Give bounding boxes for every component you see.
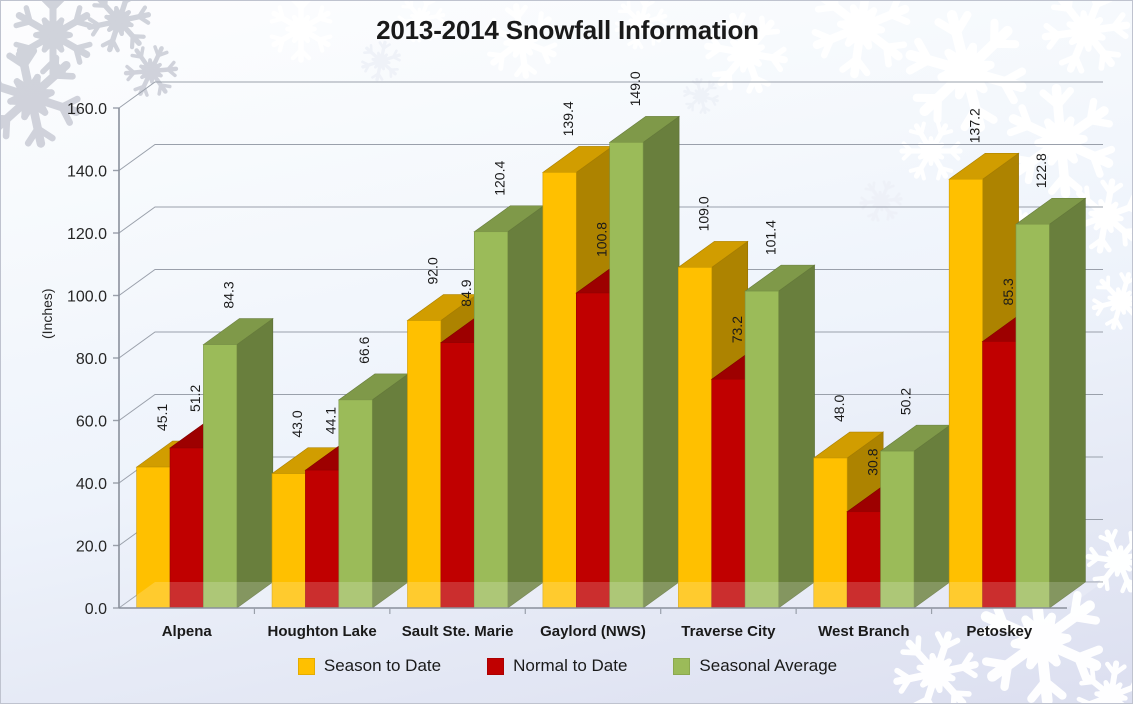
legend-item-normal-to-date[interactable]: Normal to Date: [487, 656, 627, 676]
bar-value-label: 66.6: [356, 336, 372, 363]
bar-seasonal-average: [1016, 198, 1085, 608]
bar-value-label: 109.0: [695, 196, 711, 231]
x-category-label: West Branch: [818, 623, 909, 640]
legend-item-season-to-date[interactable]: Season to Date: [298, 656, 441, 676]
legend-label: Season to Date: [324, 656, 441, 676]
y-tick-label: 40.0: [76, 476, 107, 493]
y-tick-label: 140.0: [67, 164, 107, 181]
bar-value-label: 100.8: [593, 222, 609, 257]
legend-swatch-icon: [298, 658, 315, 675]
bar-value-label: 122.8: [1033, 153, 1049, 188]
bar-value-label: 73.2: [729, 316, 745, 343]
x-category-label: Gaylord (NWS): [540, 623, 646, 640]
bar-value-label: 137.2: [966, 108, 982, 143]
bar-value-label: 92.0: [425, 257, 441, 284]
bars: [137, 116, 1086, 608]
x-category-label: Houghton Lake: [268, 623, 377, 640]
y-tick-label: 60.0: [76, 414, 107, 431]
x-category-label: Petoskey: [966, 623, 1033, 640]
bar-value-label: 85.3: [1000, 278, 1016, 305]
bar-value-label: 30.8: [864, 448, 880, 475]
legend-swatch-icon: [487, 658, 504, 675]
legend-swatch-icon: [673, 658, 690, 675]
bar-seasonal-average: [745, 265, 814, 608]
bar-value-label: 48.0: [831, 395, 847, 422]
bar-seasonal-average: [881, 425, 950, 608]
bar-value-label: 120.4: [491, 161, 507, 196]
chart-container: 2013-2014 Snowfall Information (Inches) …: [0, 0, 1133, 704]
y-tick-label: 80.0: [76, 351, 107, 368]
bar-value-label: 149.0: [627, 71, 643, 106]
legend-label: Seasonal Average: [699, 656, 837, 676]
bar-seasonal-average: [610, 116, 679, 608]
bar-seasonal-average: [474, 206, 543, 608]
bar-value-label: 43.0: [289, 410, 305, 437]
bar-value-label: 51.2: [187, 385, 203, 412]
y-axis-ticks: 0.020.040.060.080.0100.0120.0140.0160.0: [67, 101, 119, 618]
bar-value-label: 84.9: [458, 279, 474, 306]
x-category-label: Sault Ste. Marie: [402, 623, 514, 640]
legend-item-seasonal-average[interactable]: Seasonal Average: [673, 656, 837, 676]
y-tick-label: 160.0: [67, 101, 107, 118]
legend-label: Normal to Date: [513, 656, 627, 676]
bar-seasonal-average: [203, 319, 272, 608]
y-tick-label: 0.0: [85, 601, 107, 618]
y-tick-label: 100.0: [67, 289, 107, 306]
bar-value-label: 101.4: [762, 220, 778, 255]
bar-value-label: 50.2: [898, 388, 914, 415]
bar-value-label: 139.4: [560, 101, 576, 136]
x-axis-labels: AlpenaHoughton LakeSault Ste. MarieGaylo…: [162, 623, 1033, 640]
bar-value-label: 45.1: [154, 404, 170, 431]
bar-value-label: 84.3: [221, 281, 237, 308]
chart-legend: Season to DateNormal to DateSeasonal Ave…: [1, 656, 1133, 676]
y-tick-label: 20.0: [76, 539, 107, 556]
bar-value-label: 44.1: [323, 407, 339, 434]
x-category-label: Alpena: [162, 623, 213, 640]
y-tick-label: 120.0: [67, 226, 107, 243]
plot-area: 0.020.040.060.080.0100.0120.0140.0160.0 …: [1, 1, 1133, 704]
x-category-label: Traverse City: [681, 623, 776, 640]
bar-seasonal-average: [339, 374, 408, 608]
